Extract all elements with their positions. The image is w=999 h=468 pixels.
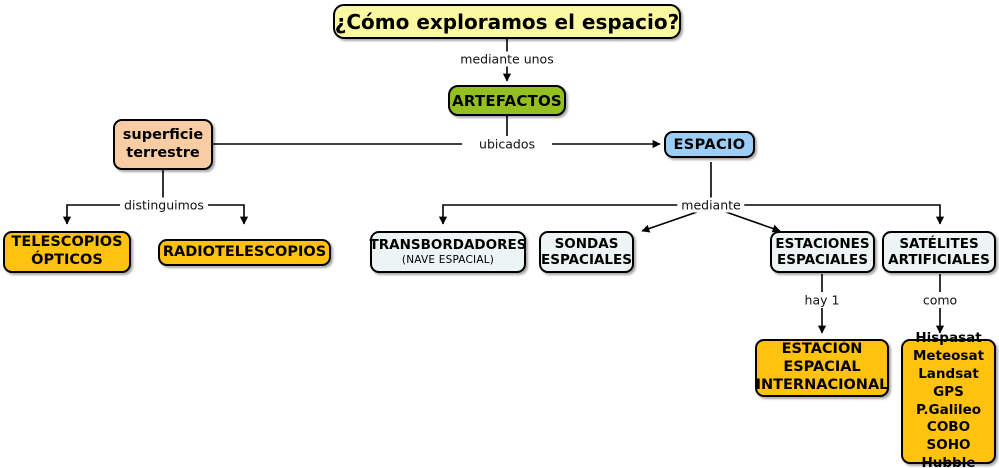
node-superficie-terrestre[interactable]: superficie terrestre <box>113 119 213 170</box>
node-sondas-line-2: ESPACIALES <box>541 252 632 268</box>
edge-label-mediante: mediante <box>677 198 744 213</box>
satellite-list-item: Hispasat <box>915 330 981 348</box>
edge-label-distinguimos: distinguimos <box>120 198 208 213</box>
node-artefactos[interactable]: ARTEFACTOS <box>448 85 566 116</box>
edge-label-ubicados: ubicados <box>475 137 539 152</box>
node-espacio-label: ESPACIO <box>673 137 745 153</box>
satellite-list-item: SOHO <box>927 437 971 455</box>
edge-mediante-to-satelites <box>743 205 940 224</box>
edge-label-mediante-unos: mediante unos <box>456 52 557 67</box>
node-espacio[interactable]: ESPACIO <box>664 131 755 158</box>
edge-distinguimos-to-radiotelescopios <box>207 205 244 224</box>
node-telescopios-opticos-line-2: ÓPTICOS <box>31 252 103 270</box>
satellite-list-item: COBO <box>927 419 970 437</box>
edge-mediante-to-estaciones <box>726 212 780 231</box>
node-superficie-line-2: terrestre <box>126 145 199 163</box>
node-transbordadores-sublabel: (NAVE ESPACIAL) <box>402 254 494 267</box>
concept-map-canvas: mediante unos ubicados distinguimos medi… <box>0 0 999 468</box>
node-satelites-line-1: SATÉLITES <box>899 236 978 252</box>
satellite-list-item: Landsat <box>918 366 979 384</box>
node-title-label: ¿Cómo exploramos el espacio? <box>335 10 679 34</box>
node-satelites-artificiales[interactable]: SATÉLITES ARTIFICIALES <box>882 231 996 273</box>
edge-label-como: como <box>919 293 961 308</box>
satellite-list-item: Meteosat <box>913 348 984 366</box>
satellite-list-item: Hubble <box>921 455 975 468</box>
node-radiotelescopios[interactable]: RADIOTELESCOPIOS <box>158 239 331 266</box>
node-satellite-list[interactable]: HispasatMeteosatLandsatGPSP.GalileoCOBOS… <box>901 339 996 464</box>
node-title[interactable]: ¿Cómo exploramos el espacio? <box>333 4 681 39</box>
edge-label-hay-1: hay 1 <box>801 293 844 308</box>
node-radiotelescopios-label: RADIOTELESCOPIOS <box>163 244 326 262</box>
edge-mediante-to-transbordadores <box>443 205 679 224</box>
node-estaciones-espaciales[interactable]: ESTACIONES ESPACIALES <box>770 231 875 273</box>
edge-mediante-to-sondas <box>642 212 697 231</box>
node-artefactos-label: ARTEFACTOS <box>452 92 562 110</box>
node-sondas-espaciales[interactable]: SONDAS ESPACIALES <box>539 231 634 273</box>
node-sondas-line-1: SONDAS <box>555 236 619 252</box>
node-iss-line-1: ESTACIÓN <box>782 341 863 359</box>
satellite-list-item: GPS <box>933 384 964 402</box>
node-estaciones-line-2: ESPACIALES <box>777 252 868 268</box>
node-transbordadores[interactable]: TRANSBORDADORES (NAVE ESPACIAL) <box>370 231 526 273</box>
satellite-list-item: P.Galileo <box>916 402 981 420</box>
node-satelites-line-2: ARTIFICIALES <box>888 252 990 268</box>
node-telescopios-opticos[interactable]: TELESCOPIOS ÓPTICOS <box>3 231 131 273</box>
node-transbordadores-label: TRANSBORDADORES <box>370 237 527 253</box>
node-superficie-line-1: superficie <box>123 127 203 145</box>
edge-distinguimos-to-telescopios <box>67 205 122 224</box>
node-iss-line-3: INTERNACIONAL <box>756 377 889 395</box>
node-iss-line-2: ESPACIAL <box>783 359 860 377</box>
node-estacion-espacial-internacional[interactable]: ESTACIÓN ESPACIAL INTERNACIONAL <box>755 339 889 397</box>
node-telescopios-opticos-line-1: TELESCOPIOS <box>11 234 122 252</box>
node-estaciones-line-1: ESTACIONES <box>775 236 869 252</box>
